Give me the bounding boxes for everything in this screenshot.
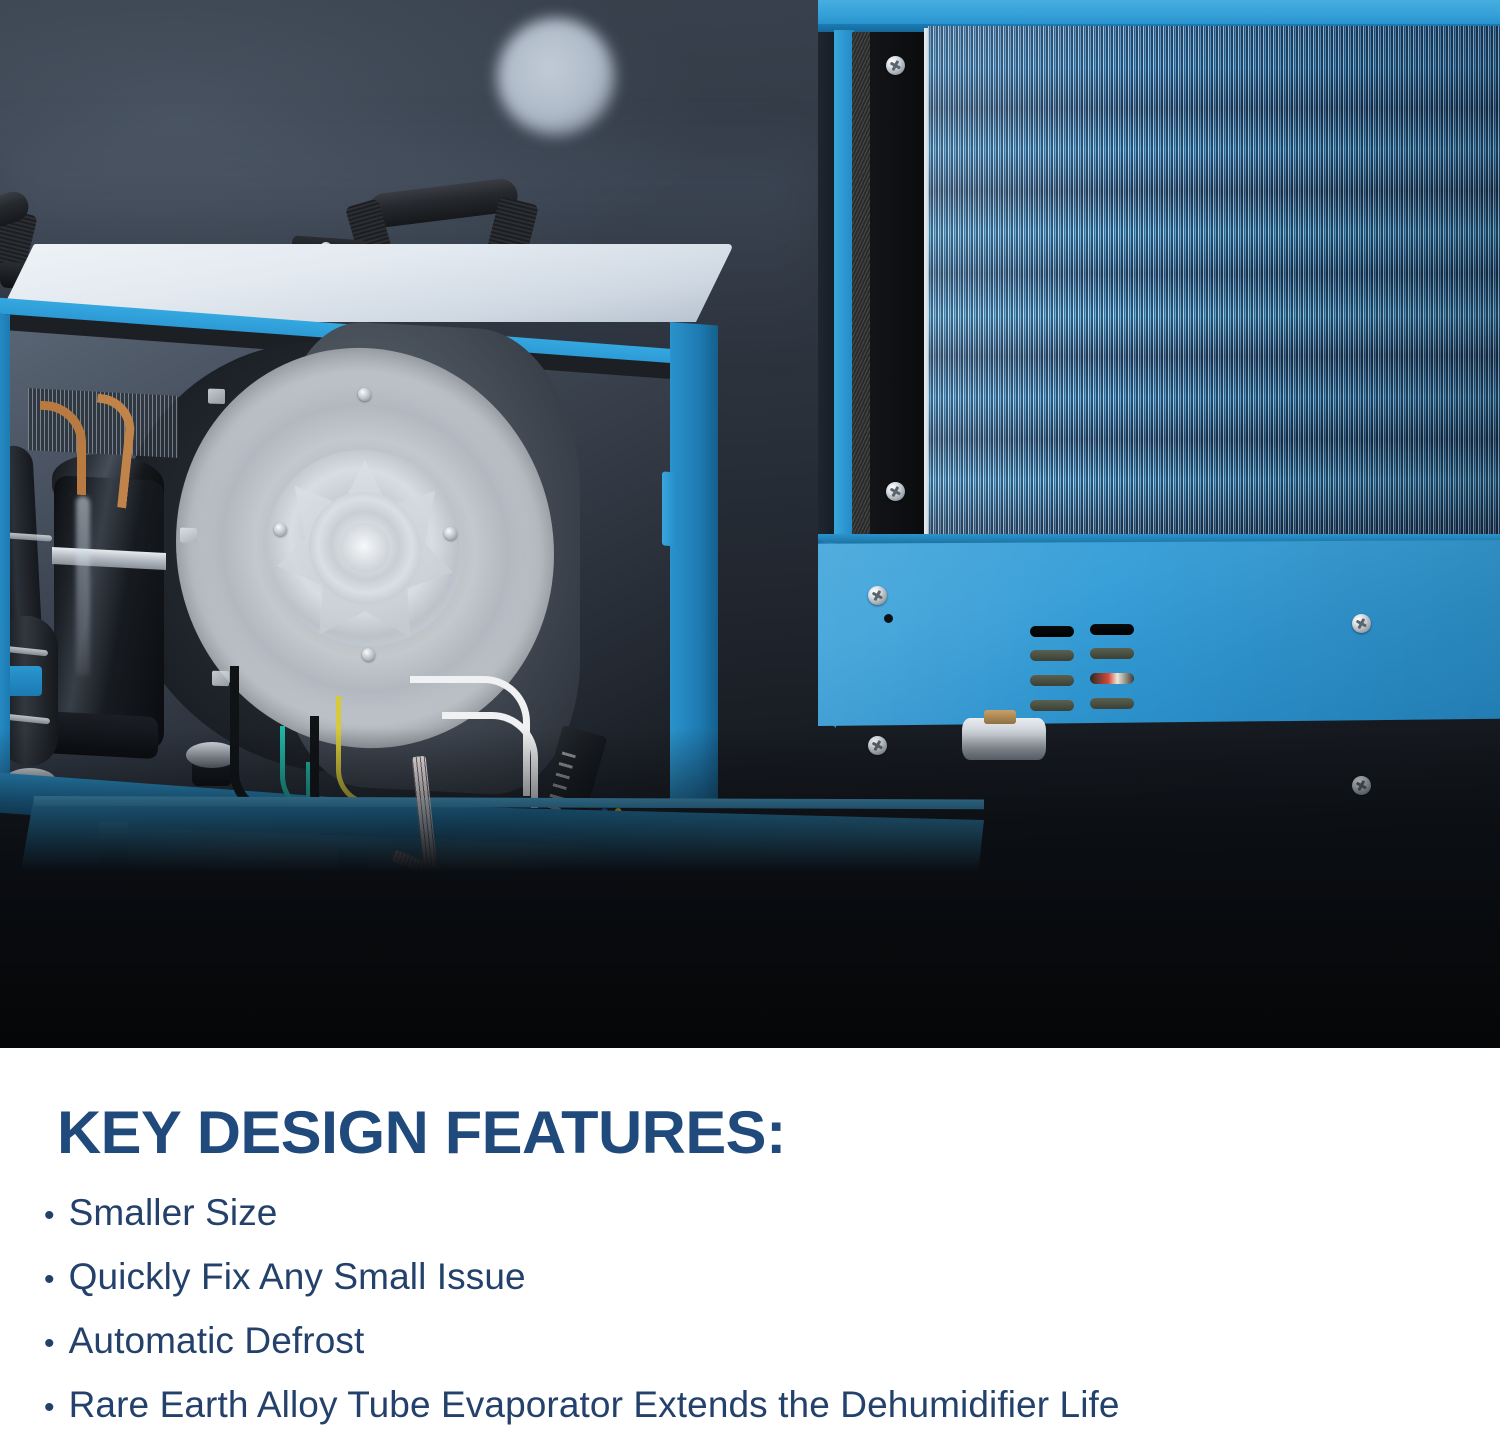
motor-shaft-cap [340,522,390,574]
vent-slot [1090,698,1134,709]
list-item: • Rare Earth Alloy Tube Evaporator Exten… [44,1384,1464,1430]
motor-plate-screw [358,388,371,401]
list-item-label: Quickly Fix Any Small Issue [69,1256,526,1298]
feature-list: • Smaller Size • Quickly Fix Any Small I… [44,1192,1464,1430]
list-item-label: Smaller Size [69,1192,278,1234]
vent-slot [1030,700,1074,711]
motor-plate-screw [444,527,457,540]
product-photo [0,0,1500,1048]
bullet-dot-icon: • [44,1265,55,1295]
lower-blue-panel-shading [818,540,1500,726]
coil-frame-screw-bottom [886,482,905,501]
list-item: • Automatic Defrost [44,1320,1464,1384]
bullet-dot-icon: • [44,1393,55,1423]
page-title: KEY DESIGN FEATURES: [57,1098,786,1167]
foam-gasket-strip [852,32,872,540]
housing-tab [212,671,229,687]
housing-tab [208,389,225,405]
motor-plate-screw [362,648,375,661]
vent-slot [1030,626,1074,637]
motor-plate-screw [274,523,287,536]
bullet-dot-icon: • [44,1201,55,1231]
rotary-compressor [54,475,164,751]
bullet-dot-icon: • [44,1329,55,1359]
list-item: • Quickly Fix Any Small Issue [44,1256,1464,1320]
vent-slot [1090,648,1134,659]
panel-screw-top-left [868,586,887,605]
bokeh-light-icon [497,18,615,136]
panel-pilot-hole [884,614,893,623]
vent-slot [1090,624,1134,635]
panel-screw-top-right [1352,614,1371,633]
list-item-label: Automatic Defrost [69,1320,365,1362]
floor-shadow [0,728,1500,1048]
dehumidifier-evaporator-unit [818,0,1500,794]
vent-slot [1030,675,1074,686]
metal-foot-stud [984,710,1016,724]
compressor-highlight [76,496,90,677]
vent-slot [1030,650,1074,661]
coil-frame-screw-top [886,56,905,75]
cabinet-hinge-tab [662,471,678,546]
coil-black-mounting-frame [870,32,928,540]
vent-slot [1090,673,1134,684]
product-feature-page: KEY DESIGN FEATURES: • Smaller Size • Qu… [0,0,1500,1430]
housing-tab [180,528,197,544]
coil-left-blue-edge [834,30,854,542]
coil-sheen [928,26,1500,542]
list-item-label: Rare Earth Alloy Tube Evaporator Extends… [69,1384,1120,1426]
list-item: • Smaller Size [44,1192,1464,1256]
